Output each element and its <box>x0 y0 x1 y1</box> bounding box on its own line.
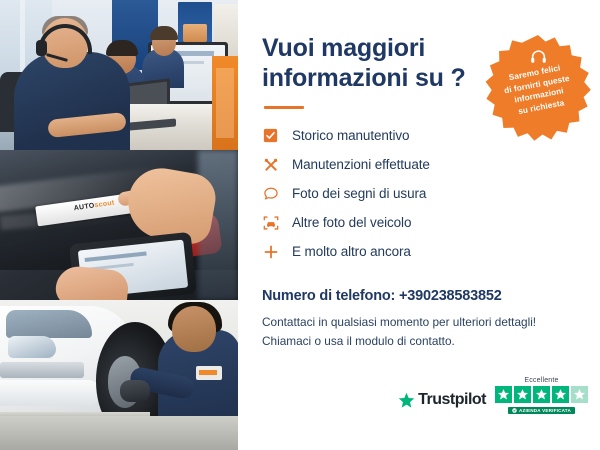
feature-label: Foto dei segni di usura <box>292 186 426 201</box>
promo-banner: AUTOscout Vuoi maggiori informazioni su … <box>0 0 600 450</box>
trustpilot-rating: Eccellente AZIENDA VERIFICATA <box>495 377 588 414</box>
plus-icon <box>262 243 279 260</box>
car-scan-frame-icon <box>262 214 279 231</box>
callout-badge: Saremo felici di fornirti queste informa… <box>484 33 592 141</box>
feature-label: E molto altro ancora <box>292 244 411 259</box>
trustpilot-name: Trustpilot <box>418 391 486 409</box>
speech-bubble-icon <box>262 185 279 202</box>
feature-label: Altre foto del veicolo <box>292 215 411 230</box>
feature-item-manutenzioni-effettuate: Manutenzioni effettuate <box>262 150 578 179</box>
feature-item-molto-altro: E molto altro ancora <box>262 237 578 266</box>
trustpilot-logo: Trustpilot <box>398 391 486 414</box>
check-circle-icon <box>512 408 517 413</box>
content-panel: Vuoi maggiori informazioni su ? Storico … <box>238 0 600 450</box>
title-underline-rule <box>264 106 304 109</box>
feature-list: Storico manutentivo Manutenzioni effettu… <box>262 121 578 266</box>
trustpilot-stars <box>495 386 588 403</box>
phone-number[interactable]: Numero di telefono: +390238583852 <box>262 288 578 304</box>
verified-label: AZIENDA VERIFICATA <box>519 408 571 413</box>
car-bumper-inspection-photo: AUTOscout <box>0 150 238 300</box>
star-filled <box>552 386 569 403</box>
star-filled <box>533 386 550 403</box>
feature-label: Storico manutentivo <box>292 128 409 143</box>
star-half <box>571 386 588 403</box>
feature-label: Manutenzioni effettuate <box>292 157 430 172</box>
star-filled <box>514 386 531 403</box>
feature-item-altre-foto-veicolo: Altre foto del veicolo <box>262 208 578 237</box>
headset-icon <box>530 49 547 64</box>
contact-line-2: Chiamaci o usa il modulo di contatto. <box>262 332 578 351</box>
crossed-tools-icon <box>262 156 279 173</box>
checkbox-checked-icon <box>262 127 279 144</box>
call-center-agents-photo <box>0 0 238 150</box>
mechanic-tyre-inspection-photo <box>0 300 238 450</box>
contact-line-1: Contattaci in qualsiasi momento per ulte… <box>262 313 578 332</box>
trustpilot-star-icon <box>398 392 415 409</box>
trustpilot-widget[interactable]: Trustpilot Eccellente AZIENDA VERIFICATA <box>398 377 588 414</box>
verified-business-badge: AZIENDA VERIFICATA <box>508 407 575 414</box>
photo-column: AUTOscout <box>0 0 238 450</box>
feature-item-foto-segni-usura: Foto dei segni di usura <box>262 179 578 208</box>
page-title: Vuoi maggiori informazioni su ? <box>262 34 472 93</box>
star-filled <box>495 386 512 403</box>
trustpilot-rating-word: Eccellente <box>524 377 558 384</box>
